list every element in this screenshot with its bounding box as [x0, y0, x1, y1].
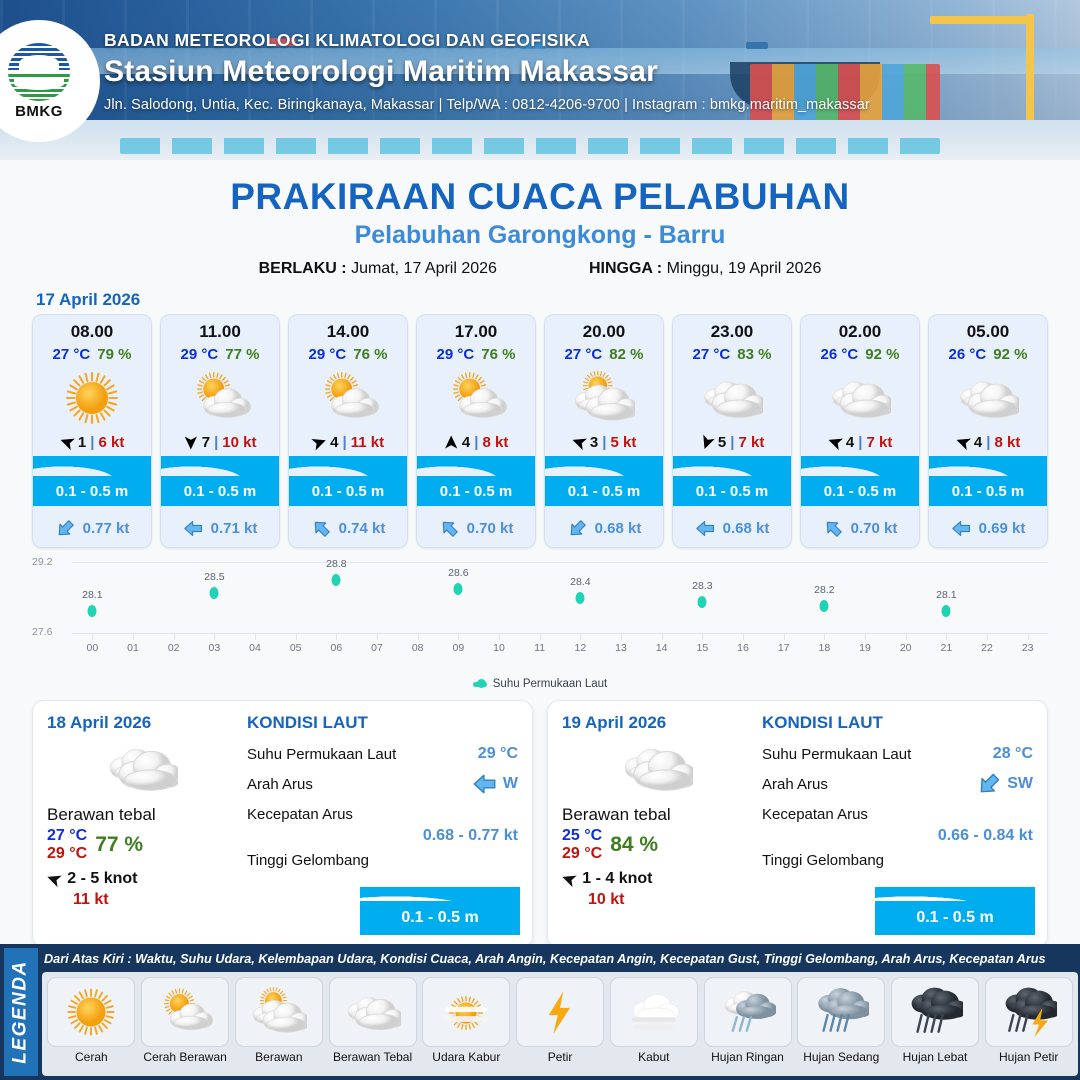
card-wind-direction: 4 [330, 434, 338, 451]
wave-body: 0.1 - 0.5 m [417, 476, 535, 506]
chart-x-tick-label: 22 [981, 642, 993, 654]
header-text-block: BADAN METEOROLOGI KLIMATOLOGI DAN GEOFIS… [104, 30, 870, 113]
card-weather-icon [801, 365, 919, 431]
chart-x-tick [377, 633, 378, 640]
day-wind-range: 2 - 5 knot [67, 870, 137, 888]
day-temp-min: 25 °C [562, 827, 602, 845]
chart-y-tick-min: 27.6 [32, 626, 52, 638]
chart-data-point [332, 574, 341, 586]
day-wave-height: 0.1 - 0.5 m [916, 909, 993, 927]
forecast-card-list: 08.00 27 °C 79 % ➤ 1 | 6 kt 0.1 - 0.5 m … [0, 314, 1080, 548]
wave-crest-icon [801, 456, 919, 478]
chart-x-tick-label: 12 [574, 642, 586, 654]
haze-icon [438, 986, 494, 1038]
forecast-card[interactable]: 20.00 27 °C 82 % ➤ 3 | 5 kt 0.1 - 0.5 m [544, 314, 664, 548]
chart-x-tick-label: 23 [1022, 642, 1034, 654]
legend-icon-box [235, 977, 323, 1047]
wind-separator: | [214, 434, 218, 451]
current-direction-value: SW [1007, 775, 1033, 793]
page-header: BMKG BADAN METEOROLOGI KLIMATOLOGI DAN G… [0, 0, 1080, 160]
card-wave-height: 0.1 - 0.5 m [568, 483, 641, 500]
wave-crest-icon [673, 456, 791, 478]
card-current-speed: 0.69 kt [979, 520, 1026, 537]
card-current-speed: 0.74 kt [339, 520, 386, 537]
legend-item-label: Cerah Berawan [143, 1050, 226, 1064]
card-wave-graphic: 0.1 - 0.5 m [289, 456, 407, 514]
chart-x-tick [784, 633, 785, 640]
chart-data-point [942, 605, 951, 617]
card-temp-humidity: 27 °C 82 % [545, 342, 663, 365]
card-current-speed: 0.77 kt [83, 520, 130, 537]
day-summary: 19 April 2026 Berawan tebal 25 °C 29 °C … [562, 713, 752, 933]
daily-forecast-panel[interactable]: 19 April 2026 Berawan tebal 25 °C 29 °C … [547, 700, 1048, 948]
station-contact: Jln. Salodong, Untia, Kec. Biringkanaya,… [104, 97, 870, 113]
legend-title: LEGENDA [10, 960, 32, 1063]
legend-section: LEGENDA Dari Atas Kiri : Waktu, Suhu Uda… [0, 944, 1080, 1080]
card-wave-height: 0.1 - 0.5 m [440, 483, 513, 500]
day-wave-graphic: 0.1 - 0.5 m [360, 889, 520, 935]
lightning-icon [532, 986, 588, 1038]
station-name: Stasiun Meteorologi Maritim Makassar [104, 55, 870, 89]
card-wave-graphic: 0.1 - 0.5 m [801, 456, 919, 514]
chart-x-tick [336, 633, 337, 640]
legend-item: Berawan Tebal [327, 977, 418, 1064]
sst-row: Suhu Permukaan Laut 28 °C [762, 739, 1033, 769]
legend-item: Hujan Ringan [702, 977, 793, 1064]
card-wave-graphic: 0.1 - 0.5 m [673, 456, 791, 514]
wave-body: 0.1 - 0.5 m [360, 901, 520, 935]
current-direction-arrow-icon [823, 518, 845, 538]
chart-x-tick-label: 09 [452, 642, 464, 654]
card-wave-height: 0.1 - 0.5 m [952, 483, 1025, 500]
card-time: 17.00 [417, 315, 535, 342]
sst-label: Suhu Permukaan Laut [762, 746, 911, 763]
chart-x-tick-label: 10 [493, 642, 505, 654]
day-date: 18 April 2026 [47, 713, 237, 733]
sst-value: 28 °C [993, 745, 1033, 763]
page-subtitle: Pelabuhan Garongkong - Barru [0, 221, 1080, 250]
day-humidity: 77 % [95, 833, 143, 857]
current-direction-value: W [503, 775, 518, 793]
day-wind-range: 1 - 4 knot [582, 870, 652, 888]
chart-x-tick-label: 19 [859, 642, 871, 654]
thunderstorm-icon [1001, 986, 1057, 1038]
card-gust-speed: 7 kt [738, 434, 764, 451]
current-speed-value: 0.68 - 0.77 kt [247, 827, 518, 845]
chart-x-tick [702, 633, 703, 640]
chart-x-tick-label: 01 [127, 642, 139, 654]
wave-height-label: Tinggi Gelombang [762, 852, 884, 869]
card-humidity: 77 % [225, 346, 259, 363]
sea-condition-block: KONDISI LAUT Suhu Permukaan Laut 29 °C A… [237, 713, 518, 933]
legend-icon-box [797, 977, 885, 1047]
fog-icon [626, 986, 682, 1038]
card-temp-humidity: 29 °C 76 % [417, 342, 535, 365]
wind-direction-arrow-icon: ➤ [825, 432, 844, 453]
day-temp-column: 25 °C 29 °C [562, 827, 602, 863]
card-gust-speed: 8 kt [994, 434, 1020, 451]
card-temp-humidity: 29 °C 77 % [161, 342, 279, 365]
page-title: PRAKIRAAN CUACA PELABUHAN [0, 176, 1080, 218]
forecast-date-label: 17 April 2026 [36, 290, 1080, 310]
chart-x-tick-label: 14 [656, 642, 668, 654]
card-wind-row: ➤ 4 | 7 kt [801, 431, 919, 456]
chart-data-point [576, 592, 585, 604]
current-direction-label: Arah Arus [247, 776, 313, 793]
day-weather-icon [47, 737, 237, 799]
forecast-card[interactable]: 05.00 26 °C 92 % ➤ 4 | 8 kt 0.1 - 0.5 m [928, 314, 1048, 548]
forecast-card[interactable]: 23.00 27 °C 83 % ➤ 5 | 7 kt 0.1 - 0.5 m [672, 314, 792, 548]
card-wave-graphic: 0.1 - 0.5 m [33, 456, 151, 514]
chart-x-tick-label: 21 [940, 642, 952, 654]
card-wind-row: ➤ 1 | 6 kt [33, 431, 151, 456]
wind-separator: | [986, 434, 990, 451]
chart-x-tick-label: 20 [900, 642, 912, 654]
card-wave-height: 0.1 - 0.5 m [696, 483, 769, 500]
chart-x-tick [621, 633, 622, 640]
card-current-row: 0.68 kt [545, 514, 663, 547]
card-temperature: 27 °C [565, 346, 603, 363]
wave-crest-icon [929, 456, 1047, 478]
card-current-row: 0.70 kt [801, 514, 919, 547]
chart-data-point [820, 600, 829, 612]
current-direction-arrow-icon [439, 518, 461, 538]
card-time: 08.00 [33, 315, 151, 342]
card-weather-icon [545, 365, 663, 431]
card-humidity: 92 % [865, 346, 899, 363]
sst-value: 29 °C [478, 745, 518, 763]
chart-x-tick [296, 633, 297, 640]
sst-legend-marker-icon [473, 682, 487, 687]
card-current-row: 0.70 kt [417, 514, 535, 547]
legend-item: Petir [515, 977, 606, 1064]
card-weather-icon [289, 365, 407, 431]
wave-body: 0.1 - 0.5 m [289, 476, 407, 506]
card-temp-humidity: 27 °C 83 % [673, 342, 791, 365]
card-weather-icon [33, 365, 151, 431]
sea-condition-block: KONDISI LAUT Suhu Permukaan Laut 28 °C A… [752, 713, 1033, 933]
chart-x-axis [72, 633, 1048, 634]
card-gust-speed: 10 kt [222, 434, 256, 451]
bmkg-globe-icon [8, 43, 70, 101]
legend-item: Hujan Lebat [890, 977, 981, 1064]
card-time: 23.00 [673, 315, 791, 342]
wave-crest-icon [289, 456, 407, 478]
forecast-card[interactable]: 14.00 29 °C 76 % ➤ 4 | 11 kt 0.1 - 0.5 m [288, 314, 408, 548]
card-wave-height: 0.1 - 0.5 m [56, 483, 129, 500]
card-current-row: 0.71 kt [161, 514, 279, 547]
card-current-speed: 0.70 kt [851, 520, 898, 537]
wind-separator: | [343, 434, 347, 451]
day-date: 19 April 2026 [562, 713, 752, 733]
current-direction-arrow-icon [472, 771, 498, 797]
wind-separator: | [474, 434, 478, 451]
card-temp-humidity: 26 °C 92 % [929, 342, 1047, 365]
chart-x-tick-label: 15 [696, 642, 708, 654]
legend-item-label: Hujan Ringan [711, 1050, 784, 1064]
card-wind-row: ➤ 7 | 10 kt [161, 431, 279, 456]
chart-x-tick [580, 633, 581, 640]
chart-data-point [88, 605, 97, 617]
card-wind-row: ➤ 4 | 8 kt [929, 431, 1047, 456]
card-weather-icon [929, 365, 1047, 431]
day-temp-max: 29 °C [47, 845, 87, 863]
legend-icon-box [610, 977, 698, 1047]
legend-item-label: Hujan Lebat [903, 1050, 968, 1064]
current-direction-arrow-icon [311, 518, 333, 538]
chart-x-tick-label: 02 [168, 642, 180, 654]
day-temperature-block: 27 °C 29 °C 77 % [47, 827, 237, 863]
card-time: 14.00 [289, 315, 407, 342]
daily-panels: 18 April 2026 Berawan tebal 27 °C 29 °C … [0, 700, 1080, 948]
card-humidity: 79 % [97, 346, 131, 363]
chart-x-tick-label: 17 [778, 642, 790, 654]
valid-until-label: HINGGA : [589, 260, 662, 277]
current-direction-row: Arah Arus SW [762, 769, 1033, 799]
card-wind-direction: 4 [846, 434, 854, 451]
card-humidity: 76 % [481, 346, 515, 363]
legend-item: Hujan Petir [983, 977, 1074, 1064]
chart-data-label: 28.3 [692, 580, 712, 592]
chart-x-tick [92, 633, 93, 640]
sea-condition-title: KONDISI LAUT [762, 713, 1033, 733]
card-gust-speed: 8 kt [482, 434, 508, 451]
legend-icon-box [516, 977, 604, 1047]
chart-data-point [454, 583, 463, 595]
wave-crest-icon [33, 456, 151, 478]
card-temp-humidity: 26 °C 92 % [801, 342, 919, 365]
chart-x-tick-label: 11 [534, 642, 545, 654]
card-temperature: 29 °C [309, 346, 347, 363]
forecast-card[interactable]: 17.00 29 °C 76 % ➤ 4 | 8 kt 0.1 - 0.5 m [416, 314, 536, 548]
header-seats-icon [120, 138, 940, 154]
wave-crest-icon [417, 456, 535, 478]
chart-data-label: 28.1 [82, 589, 102, 601]
heavy-rain-icon [907, 986, 963, 1038]
wind-direction-arrow-icon: ➤ [182, 435, 199, 449]
chart-x-tick [214, 633, 215, 640]
current-direction-label: Arah Arus [762, 776, 828, 793]
chart-x-tick-label: 13 [615, 642, 627, 654]
card-time: 20.00 [545, 315, 663, 342]
legend-item: Cerah [46, 977, 137, 1064]
card-wind-direction: 4 [974, 434, 982, 451]
chart-x-tick [906, 633, 907, 640]
day-gust-speed: 11 kt [73, 891, 237, 909]
card-temperature: 29 °C [437, 346, 475, 363]
card-time: 11.00 [161, 315, 279, 342]
card-temperature: 26 °C [949, 346, 987, 363]
day-temp-column: 27 °C 29 °C [47, 827, 87, 863]
current-direction-arrow-icon [55, 518, 77, 538]
current-speed-row: Kecepatan Arus [247, 799, 518, 829]
day-summary: 18 April 2026 Berawan tebal 27 °C 29 °C … [47, 713, 237, 933]
chart-x-tick-label: 08 [412, 642, 424, 654]
sst-chart-plot: 29.227.600010203040506070809101112131415… [26, 562, 1054, 634]
chart-x-tick-label: 00 [86, 642, 98, 654]
card-gust-speed: 7 kt [866, 434, 892, 451]
agency-name: BADAN METEOROLOGI KLIMATOLOGI DAN GEOFIS… [104, 30, 870, 51]
wave-body: 0.1 - 0.5 m [801, 476, 919, 506]
legend-icon-box [329, 977, 417, 1047]
day-condition: Berawan tebal [562, 805, 752, 825]
chart-x-tick-label: 03 [208, 642, 220, 654]
current-speed-row: Kecepatan Arus [762, 799, 1033, 829]
wave-crest-icon [545, 456, 663, 478]
card-current-row: 0.68 kt [673, 514, 791, 547]
current-speed-value: 0.66 - 0.84 kt [762, 827, 1033, 845]
legend-item: Kabut [608, 977, 699, 1064]
card-temp-humidity: 27 °C 79 % [33, 342, 151, 365]
chart-x-tick-label: 16 [737, 642, 749, 654]
card-wind-row: ➤ 4 | 8 kt [417, 431, 535, 456]
day-humidity: 84 % [610, 833, 658, 857]
current-direction-arrow-icon [183, 518, 205, 538]
wave-height-row: Tinggi Gelombang [762, 845, 1033, 875]
wave-height-label: Tinggi Gelombang [247, 852, 369, 869]
wind-direction-arrow-icon: ➤ [309, 432, 328, 453]
card-wind-direction: 4 [462, 434, 470, 451]
card-wind-direction: 7 [202, 434, 210, 451]
chart-x-tick [458, 633, 459, 640]
wave-height-row: Tinggi Gelombang [247, 845, 518, 875]
card-current-row: 0.77 kt [33, 514, 151, 547]
chart-x-tick [255, 633, 256, 640]
cloudy-icon [345, 986, 401, 1038]
wave-body: 0.1 - 0.5 m [875, 901, 1035, 935]
chart-x-tick [540, 633, 541, 640]
forecast-card[interactable]: 11.00 29 °C 77 % ➤ 7 | 10 kt 0.1 - 0.5 m [160, 314, 280, 548]
sunny-icon [63, 986, 119, 1038]
card-temperature: 27 °C [693, 346, 731, 363]
chart-x-tick-label: 06 [330, 642, 342, 654]
day-wind-row: ➤ 2 - 5 knot [47, 869, 237, 889]
card-wave-graphic: 0.1 - 0.5 m [929, 456, 1047, 514]
current-direction-row: Arah Arus W [247, 769, 518, 799]
chart-x-tick [824, 633, 825, 640]
legend-item-label: Cerah [75, 1050, 108, 1064]
chart-data-label: 28.5 [204, 571, 224, 583]
forecast-card[interactable]: 02.00 26 °C 92 % ➤ 4 | 7 kt 0.1 - 0.5 m [800, 314, 920, 548]
wave-body: 0.1 - 0.5 m [161, 476, 279, 506]
legend-icon-box [141, 977, 229, 1047]
day-temperature-block: 25 °C 29 °C 84 % [562, 827, 752, 863]
chart-data-point [698, 596, 707, 608]
card-current-row: 0.74 kt [289, 514, 407, 547]
chart-gridline [72, 562, 1048, 563]
chart-data-label: 28.6 [448, 567, 468, 579]
card-humidity: 83 % [737, 346, 771, 363]
card-weather-icon [417, 365, 535, 431]
legend-item-label: Berawan Tebal [333, 1050, 412, 1064]
legend-item: Berawan [233, 977, 324, 1064]
forecast-card[interactable]: 08.00 27 °C 79 % ➤ 1 | 6 kt 0.1 - 0.5 m … [32, 314, 152, 548]
card-wave-graphic: 0.1 - 0.5 m [417, 456, 535, 514]
valid-from-value: Jumat, 17 April 2026 [351, 260, 497, 277]
chart-x-tick [418, 633, 419, 640]
sst-label: Suhu Permukaan Laut [247, 746, 396, 763]
legend-item-label: Udara Kabur [432, 1050, 500, 1064]
day-condition: Berawan tebal [47, 805, 237, 825]
chart-data-label: 28.4 [570, 576, 590, 588]
bmkg-logo-text: BMKG [15, 103, 63, 120]
legend-item: Udara Kabur [421, 977, 512, 1064]
day-gust-speed: 10 kt [588, 891, 752, 909]
valid-from-label: BERLAKU : [259, 260, 347, 277]
legend-icon-box [47, 977, 135, 1047]
card-temperature: 27 °C [53, 346, 91, 363]
wind-direction-arrow-icon: ➤ [696, 433, 717, 452]
legend-icon-box [422, 977, 510, 1047]
wave-body: 0.1 - 0.5 m [929, 476, 1047, 506]
card-wind-direction: 3 [590, 434, 598, 451]
chart-data-label: 28.2 [814, 584, 834, 596]
valid-until: HINGGA : Minggu, 19 April 2026 [589, 260, 821, 278]
legend-item-label: Hujan Sedang [803, 1050, 879, 1064]
wind-separator: | [90, 434, 94, 451]
current-direction-arrow-icon [951, 518, 973, 538]
card-time: 02.00 [801, 315, 919, 342]
chart-x-tick-label: 07 [371, 642, 383, 654]
card-current-speed: 0.68 kt [595, 520, 642, 537]
chart-x-tick-label: 18 [818, 642, 830, 654]
chart-x-tick [1028, 633, 1029, 640]
card-wind-row: ➤ 3 | 5 kt [545, 431, 663, 456]
day-wave-graphic: 0.1 - 0.5 m [875, 889, 1035, 935]
chart-x-tick-label: 05 [290, 642, 302, 654]
chart-x-tick-label: 04 [249, 642, 261, 654]
card-gust-speed: 6 kt [98, 434, 124, 451]
legend-icon-box [985, 977, 1073, 1047]
card-wave-height: 0.1 - 0.5 m [312, 483, 385, 500]
card-wave-graphic: 0.1 - 0.5 m [161, 456, 279, 514]
moderate-rain-icon [813, 986, 869, 1038]
current-direction-arrow-icon [695, 518, 717, 538]
wind-direction-arrow-icon: ➤ [442, 435, 459, 449]
daily-forecast-panel[interactable]: 18 April 2026 Berawan tebal 27 °C 29 °C … [32, 700, 533, 948]
card-gust-speed: 5 kt [610, 434, 636, 451]
wave-body: 0.1 - 0.5 m [545, 476, 663, 506]
chart-data-label: 28.8 [326, 558, 346, 570]
wind-direction-arrow-icon: ➤ [44, 867, 64, 891]
wind-direction-arrow-icon: ➤ [953, 432, 972, 453]
card-humidity: 82 % [609, 346, 643, 363]
wind-separator: | [730, 434, 734, 451]
sst-chart-legend: Suhu Permukaan Laut [0, 678, 1080, 690]
wind-direction-arrow-icon: ➤ [559, 867, 579, 891]
card-gust-speed: 11 kt [351, 434, 384, 451]
legend-item: Cerah Berawan [140, 977, 231, 1064]
day-wave-height: 0.1 - 0.5 m [401, 909, 478, 927]
light-rain-icon [720, 986, 776, 1038]
card-wind-direction: 5 [718, 434, 726, 451]
sst-row: Suhu Permukaan Laut 29 °C [247, 739, 518, 769]
wave-crest-icon [161, 456, 279, 478]
wave-body: 0.1 - 0.5 m [673, 476, 791, 506]
wind-separator: | [858, 434, 862, 451]
partly-cloudy-icon [157, 986, 213, 1038]
card-temperature: 26 °C [821, 346, 859, 363]
chart-data-point [210, 587, 219, 599]
wind-separator: | [602, 434, 606, 451]
legend-item: Hujan Sedang [796, 977, 887, 1064]
card-current-speed: 0.71 kt [211, 520, 258, 537]
card-wave-height: 0.1 - 0.5 m [824, 483, 897, 500]
validity-row: BERLAKU : Jumat, 17 April 2026 HINGGA : … [0, 260, 1080, 278]
card-wind-row: ➤ 4 | 11 kt [289, 431, 407, 456]
card-current-row: 0.69 kt [929, 514, 1047, 547]
chart-x-tick [662, 633, 663, 640]
